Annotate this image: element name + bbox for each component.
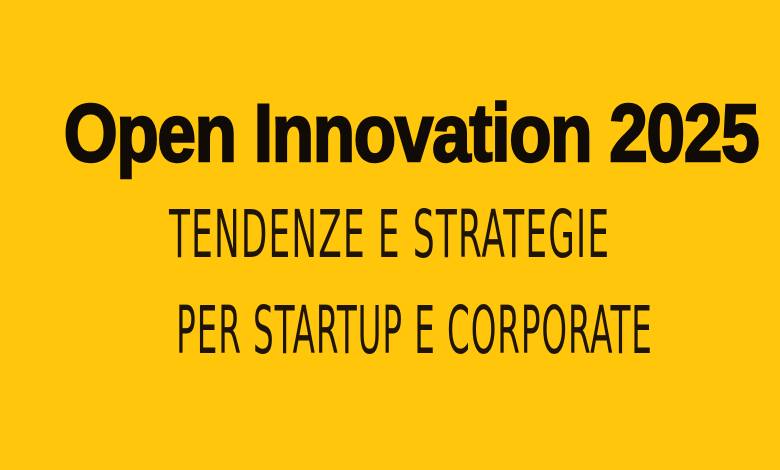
poster-subheadline-line-1: TENDENZE E STRATEGIE (169, 202, 610, 268)
poster-subheadline-line-2: PER STARTUP E CORPORATE (176, 298, 653, 364)
subheadline-line-2-container: PER STARTUP E CORPORATE (0, 299, 780, 362)
poster-canvas: Open Innovation 2025 TENDENZE E STRATEGI… (0, 0, 780, 470)
subheadline-line-1-container: TENDENZE E STRATEGIE (0, 203, 780, 266)
headline-container: Open Innovation 2025 (0, 93, 780, 175)
poster-headline: Open Innovation 2025 (64, 93, 759, 175)
